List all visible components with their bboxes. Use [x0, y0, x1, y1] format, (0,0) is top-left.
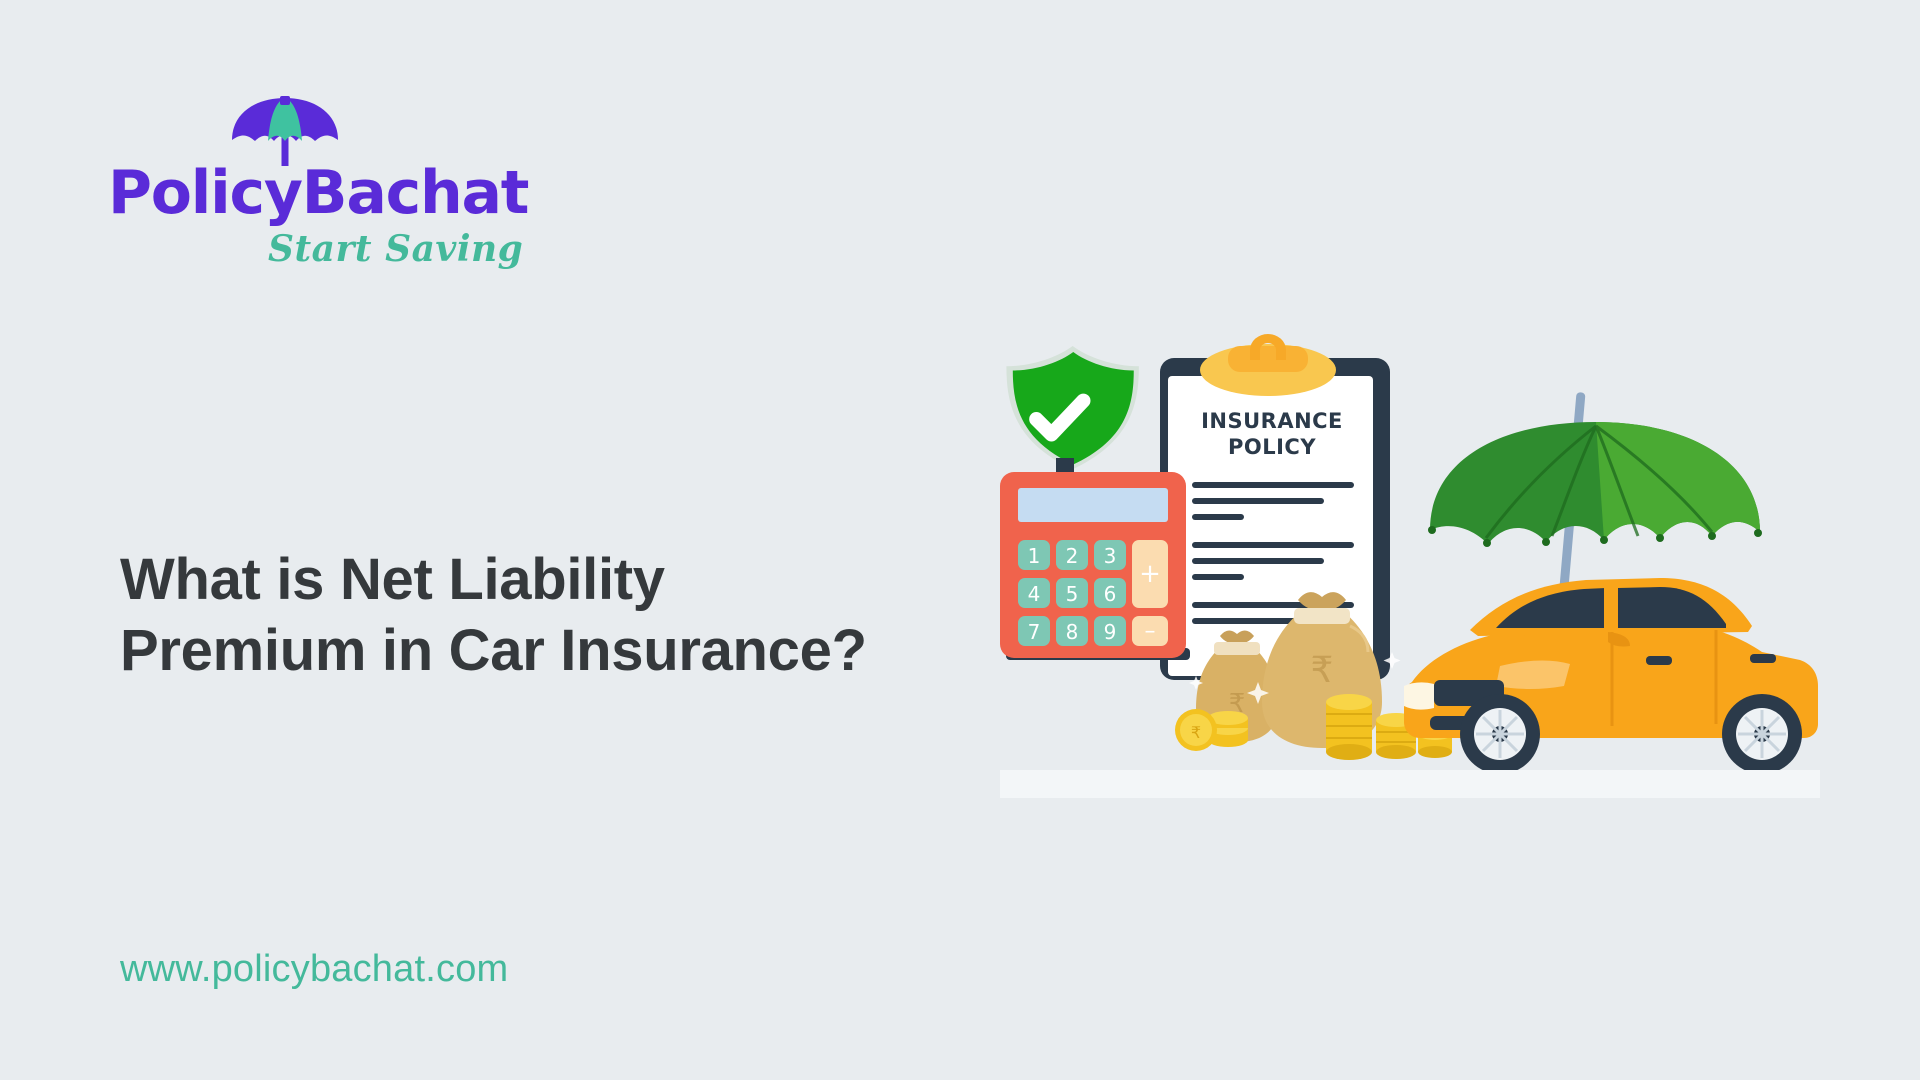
svg-text:4: 4 [1028, 582, 1041, 606]
svg-text:–: – [1145, 619, 1156, 644]
svg-text:3: 3 [1104, 544, 1117, 568]
car-insurance-illustration: INSURANCE POLICY [1000, 330, 1820, 830]
svg-text:2: 2 [1066, 544, 1079, 568]
orange-car-icon [1404, 578, 1818, 774]
clipboard-clip [1200, 334, 1336, 396]
svg-text:POLICY: POLICY [1228, 435, 1316, 459]
logo-tagline: Start Saving [268, 228, 523, 270]
svg-text:6: 6 [1104, 582, 1117, 606]
calculator-icon: 1 2 3 + 4 5 6 7 [1000, 472, 1190, 660]
page-title: What is Net Liability Premium in Car Ins… [120, 545, 950, 687]
svg-text:₹: ₹ [1191, 723, 1201, 742]
svg-text:8: 8 [1066, 620, 1079, 644]
coin-standing-left: ₹ [1175, 709, 1217, 751]
shield-check-icon [1006, 346, 1138, 474]
headline-line-2: Premium in Car Insurance? [120, 616, 950, 687]
car-headlight [1404, 682, 1434, 709]
svg-text:INSURANCE: INSURANCE [1201, 409, 1343, 433]
green-umbrella-icon [1428, 392, 1762, 592]
site-url[interactable]: www.policybachat.com [120, 948, 508, 991]
ground-line [1000, 770, 1820, 786]
poster-canvas: PolicyBachat Start Saving What is Net Li… [0, 0, 1920, 1080]
svg-text:1: 1 [1028, 544, 1041, 568]
headline-line-1: What is Net Liability [120, 545, 950, 616]
svg-text:5: 5 [1066, 582, 1079, 606]
logo-wordmark: PolicyBachat [108, 158, 528, 228]
svg-text:₹: ₹ [1311, 650, 1334, 691]
svg-text:7: 7 [1028, 620, 1041, 644]
svg-text:9: 9 [1104, 620, 1117, 644]
svg-text:+: + [1139, 559, 1161, 589]
